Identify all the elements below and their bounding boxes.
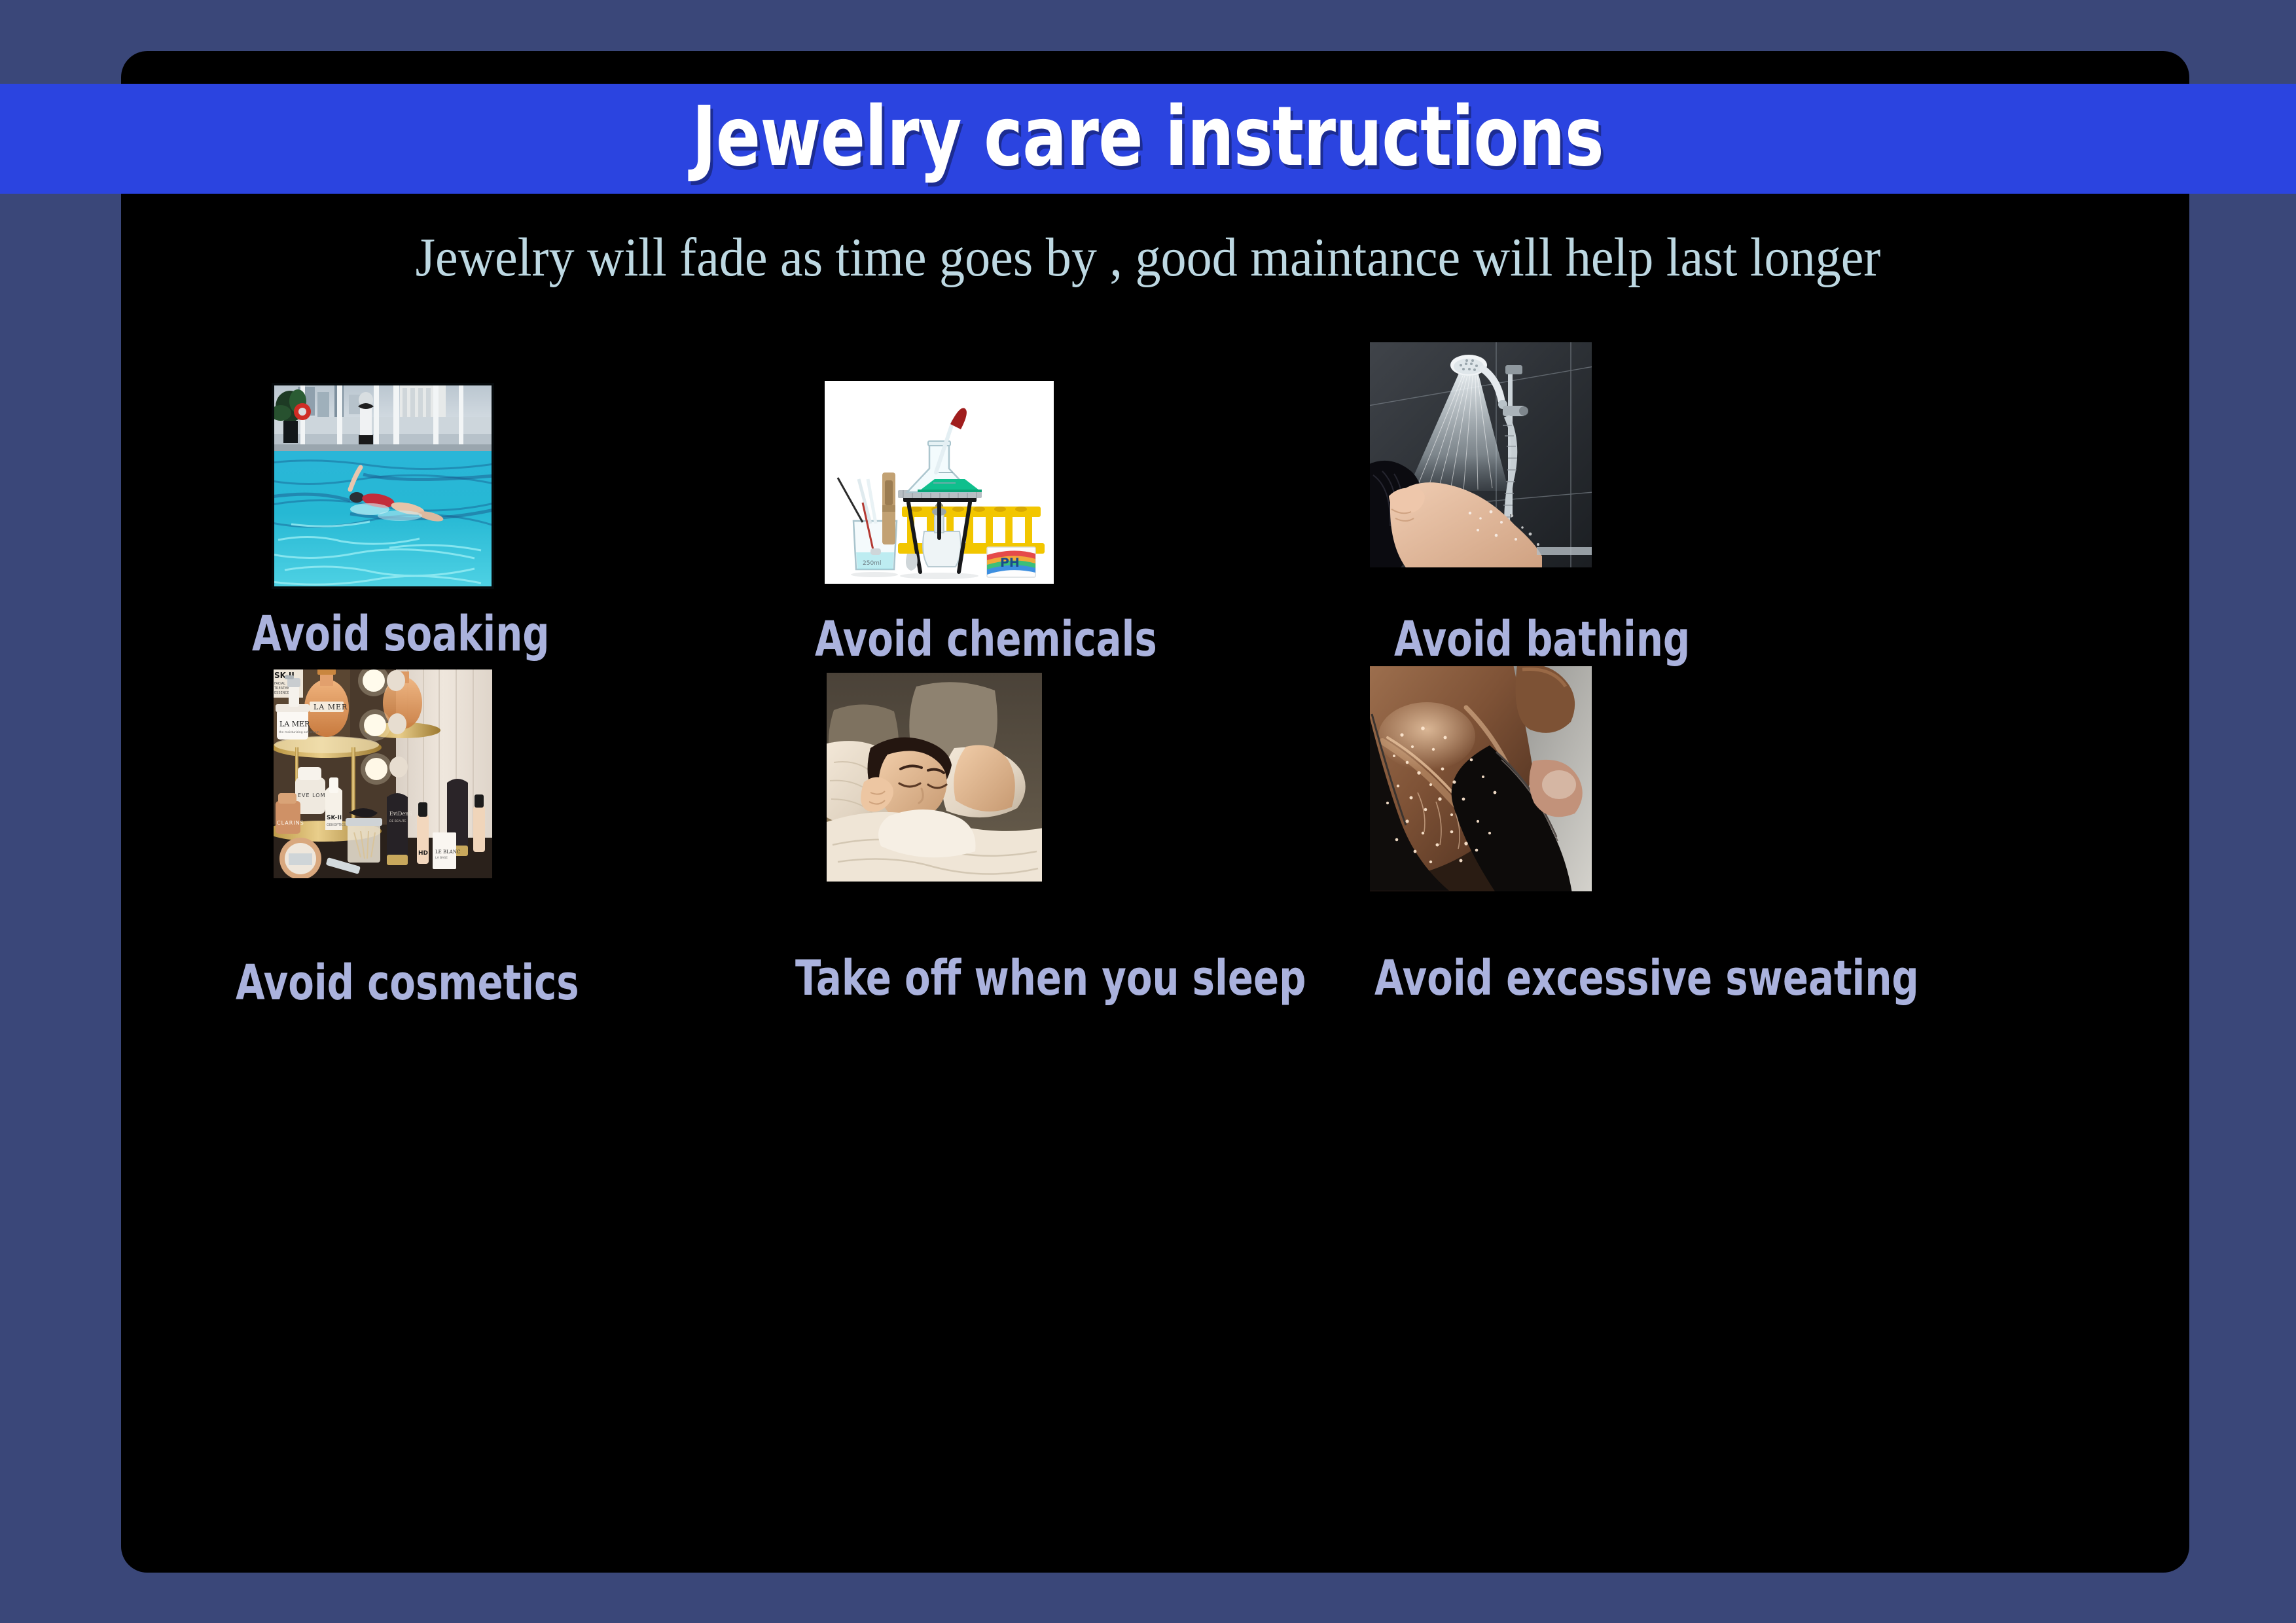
title-banner: Jewelry care instructions (0, 84, 2296, 194)
svg-text:LA BASE: LA BASE (435, 856, 448, 860)
shower-photo (1368, 340, 1594, 569)
svg-text:ESSENCE: ESSENCE (274, 691, 289, 695)
care-instruction-grid: Avoid soaking (121, 366, 2189, 1531)
cosmetics-vanity-photo: SK-II FACIAL TREATMENT ESSENCE LA MER (272, 668, 494, 880)
grid-item-avoid-cosmetics: SK-II FACIAL TREATMENT ESSENCE LA MER (272, 668, 494, 880)
svg-text:SK-II: SK-II (327, 815, 342, 821)
svg-text:FACIAL: FACIAL (274, 682, 285, 686)
svg-text:PH: PH (1000, 556, 1020, 570)
svg-text:HD: HD (418, 850, 428, 857)
grid-item-avoid-chemicals: 250ml (825, 381, 1054, 584)
svg-text:DE BEAUTE: DE BEAUTE (389, 819, 406, 823)
swimming-pool-photo (272, 383, 494, 589)
caption-avoid-chemicals: Avoid chemicals (815, 615, 1157, 664)
caption-avoid-bathing: Avoid bathing (1394, 615, 1690, 664)
svg-text:EVE LOM: EVE LOM (298, 793, 326, 798)
svg-text:LA MER: LA MER (314, 703, 348, 711)
sleeping-woman-photo (825, 671, 1044, 883)
subtitle-text: Jewelry will fade as time goes by , good… (81, 230, 2215, 285)
svg-text:LE BLANC: LE BLANC (435, 849, 460, 855)
svg-text:GENOPTICS: GENOPTICS (327, 823, 346, 827)
svg-text:LA MER: LA MER (279, 720, 310, 728)
caption-avoid-excessive-sweating: Avoid excessive sweating (1374, 954, 1919, 1003)
caption-avoid-soaking: Avoid soaking (252, 610, 550, 658)
page-title: Jewelry care instructions (692, 96, 1604, 178)
grid-item-avoid-excessive-sweating (1368, 664, 1594, 893)
svg-text:the moisturizing soft cream: the moisturizing soft cream (279, 730, 319, 734)
grid-item-take-off-when-you-sleep (825, 671, 1044, 883)
grid-item-avoid-bathing (1368, 340, 1594, 569)
svg-text:EviDenS: EviDenS (389, 811, 412, 817)
sweating-skin-photo (1368, 664, 1594, 893)
svg-text:250ml: 250ml (863, 560, 881, 567)
svg-text:CLARINS: CLARINS (277, 820, 304, 826)
caption-avoid-cosmetics: Avoid cosmetics (236, 959, 579, 1007)
laboratory-glassware-photo: 250ml (825, 381, 1054, 584)
caption-take-off-when-you-sleep: Take off when you sleep (795, 954, 1306, 1003)
grid-item-avoid-soaking (272, 383, 494, 589)
